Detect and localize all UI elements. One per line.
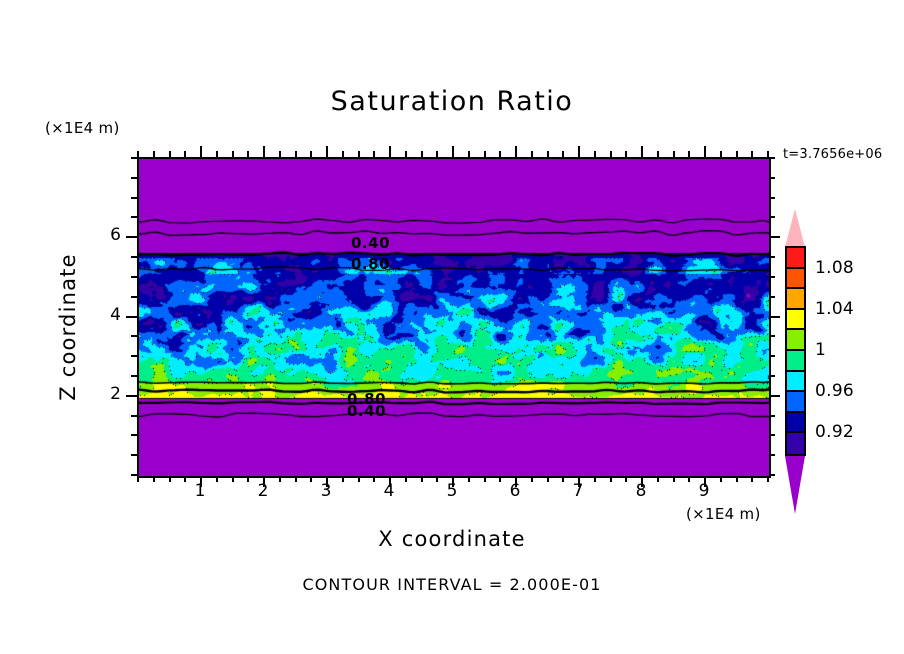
x-tick-mark-top: [216, 151, 218, 157]
y-tick-mark: [131, 157, 137, 159]
contour-value-label: 0.40: [347, 402, 386, 420]
colorbar-band: [787, 310, 804, 331]
x-tick-mark-top: [641, 146, 643, 157]
contour-value-label: 0.40: [351, 234, 390, 252]
colorbar-band: [787, 351, 804, 372]
x-tick-mark-top: [562, 151, 564, 157]
x-tick-mark: [295, 476, 297, 482]
x-tick-mark: [232, 476, 234, 482]
y-tick-mark: [131, 335, 137, 337]
y-tick-mark-right: [769, 335, 775, 337]
time-annotation: t=3.7656e+06: [783, 147, 882, 162]
y-tick-mark-right: [769, 454, 775, 456]
x-tick-label: 4: [369, 481, 409, 501]
x-tick-mark: [169, 476, 171, 482]
x-axis-title: X coordinate: [0, 527, 904, 551]
y-tick-mark-right: [769, 296, 775, 298]
x-tick-mark-top: [468, 151, 470, 157]
y-tick-mark-right: [769, 216, 775, 218]
y-tick-mark: [131, 256, 137, 258]
x-tick-mark-top: [547, 151, 549, 157]
colorbar-band: [787, 330, 804, 351]
y-tick-mark: [126, 395, 137, 397]
y-tick-mark-right: [769, 157, 775, 159]
x-tick-mark-top: [200, 146, 202, 157]
x-tick-label: 5: [432, 481, 472, 501]
colorbar-band: [787, 433, 804, 454]
x-tick-mark-top: [342, 151, 344, 157]
y-tick-mark: [131, 355, 137, 357]
x-tick-label: 9: [684, 481, 724, 501]
x-tick-mark: [767, 476, 769, 482]
x-tick-mark-top: [704, 146, 706, 157]
y-tick-label: 2: [91, 384, 121, 404]
x-tick-mark-top: [373, 151, 375, 157]
y-tick-mark: [126, 236, 137, 238]
y-tick-mark: [131, 197, 137, 199]
x-tick-label: 7: [558, 481, 598, 501]
x-tick-mark-top: [232, 151, 234, 157]
x-tick-mark: [751, 476, 753, 482]
x-tick-label: 6: [495, 481, 535, 501]
contour-interval-caption: CONTOUR INTERVAL = 2.000E-01: [0, 575, 904, 594]
y-tick-mark-right: [769, 177, 775, 179]
colorbar-band: [787, 413, 804, 434]
y-tick-mark-right: [769, 395, 780, 397]
x-tick-mark-top: [279, 151, 281, 157]
x-tick-mark-top: [389, 146, 391, 157]
y-tick-mark-right: [769, 197, 775, 199]
colorbar-tick-label: 1: [815, 340, 826, 360]
x-tick-mark-top: [751, 151, 753, 157]
x-tick-mark-top: [295, 151, 297, 157]
contour-value-label: 0.80: [351, 255, 390, 273]
x-tick-label: 1: [180, 481, 220, 501]
colorbar-band: [787, 248, 804, 269]
x-tick-mark-top: [405, 151, 407, 157]
x-tick-mark-top: [578, 146, 580, 157]
colorbar-cap-bottom: [785, 456, 805, 514]
colorbar-band: [787, 269, 804, 290]
x-tick-mark-top: [625, 151, 627, 157]
colorbar-band: [787, 392, 804, 413]
y-tick-mark-right: [769, 355, 775, 357]
x-tick-label: 8: [621, 481, 661, 501]
y-tick-mark: [131, 375, 137, 377]
colorbar-band: [787, 372, 804, 393]
x-tick-label: 2: [243, 481, 283, 501]
contour-plot-area: 0.400.800.800.40: [137, 157, 771, 478]
x-tick-mark: [358, 476, 360, 482]
y-axis-title: Z coordinate: [56, 227, 80, 427]
x-tick-mark-top: [137, 151, 139, 157]
y-tick-mark: [131, 216, 137, 218]
x-tick-mark: [484, 476, 486, 482]
x-tick-mark-top: [153, 151, 155, 157]
x-tick-mark-top: [484, 151, 486, 157]
y-tick-mark: [131, 415, 137, 417]
x-tick-mark: [610, 476, 612, 482]
x-tick-mark-top: [184, 151, 186, 157]
x-tick-mark-top: [610, 151, 612, 157]
y-tick-mark: [131, 276, 137, 278]
y-tick-mark: [126, 316, 137, 318]
x-tick-mark-top: [515, 146, 517, 157]
colorbar-tick-label: 0.96: [815, 381, 854, 401]
x-tick-mark: [736, 476, 738, 482]
x-axis-unit-label: (×1E4 m): [686, 505, 761, 523]
y-tick-mark-right: [769, 236, 780, 238]
y-tick-mark: [131, 454, 137, 456]
colorbar-tick-label: 1.08: [815, 258, 854, 278]
x-tick-mark-top: [657, 151, 659, 157]
colorbar-tick-label: 0.92: [815, 422, 854, 442]
x-tick-mark-top: [436, 151, 438, 157]
x-tick-mark-top: [421, 151, 423, 157]
y-tick-mark-right: [769, 434, 775, 436]
y-tick-label: 4: [91, 305, 121, 325]
colorbar-cap-top: [785, 209, 805, 247]
page-title: Saturation Ratio: [0, 86, 904, 117]
x-tick-mark-top: [720, 151, 722, 157]
y-tick-mark-right: [769, 415, 775, 417]
x-tick-mark-top: [499, 151, 501, 157]
colorbar: [785, 246, 806, 456]
colorbar-band: [787, 289, 804, 310]
x-tick-mark-top: [452, 146, 454, 157]
x-tick-mark: [547, 476, 549, 482]
colorbar-tick-label: 1.04: [815, 299, 854, 319]
x-tick-mark-top: [736, 151, 738, 157]
y-tick-mark: [131, 177, 137, 179]
y-tick-mark: [131, 434, 137, 436]
x-tick-mark: [421, 476, 423, 482]
x-tick-mark-top: [310, 151, 312, 157]
y-tick-mark-right: [769, 276, 775, 278]
y-tick-mark-right: [769, 256, 775, 258]
x-tick-mark-top: [247, 151, 249, 157]
x-tick-mark: [137, 476, 139, 482]
x-tick-mark: [673, 476, 675, 482]
y-tick-label: 6: [91, 225, 121, 245]
x-tick-label: 3: [306, 481, 346, 501]
x-tick-mark-top: [358, 151, 360, 157]
x-tick-mark-top: [688, 151, 690, 157]
x-tick-mark-top: [169, 151, 171, 157]
x-tick-mark: [153, 476, 155, 482]
x-tick-mark-top: [263, 146, 265, 157]
y-axis-unit-label: (×1E4 m): [45, 119, 120, 137]
y-tick-mark-right: [769, 474, 775, 476]
y-tick-mark: [131, 474, 137, 476]
x-tick-mark-top: [531, 151, 533, 157]
x-tick-mark-top: [594, 151, 596, 157]
y-tick-mark-right: [769, 375, 775, 377]
y-tick-mark-right: [769, 316, 780, 318]
x-tick-mark-top: [673, 151, 675, 157]
y-tick-mark: [131, 296, 137, 298]
contour-field: [139, 159, 769, 476]
x-tick-mark-top: [326, 146, 328, 157]
